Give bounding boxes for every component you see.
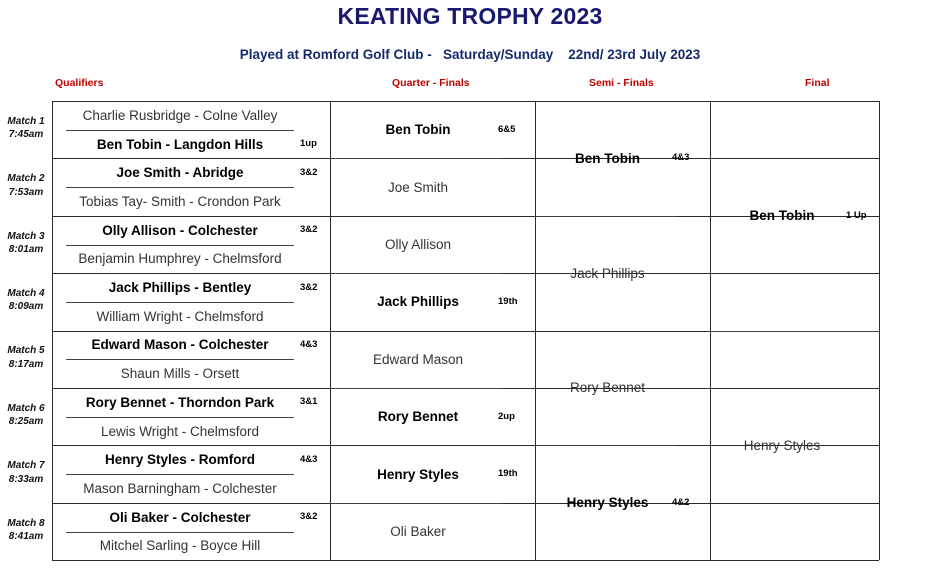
qualifier-slot-2[interactable]: Ben Tobin - Langdon Hills xyxy=(66,130,294,159)
player-name: Ben Tobin xyxy=(575,151,640,166)
player-name: Olly Allison - Colchester xyxy=(102,223,258,238)
match-time: 8:01am xyxy=(0,243,52,257)
player-name: Tobias Tay- Smith - Crondon Park xyxy=(79,194,281,209)
page-subtitle: Played at Romford Golf Club - Saturday/S… xyxy=(0,47,940,62)
final-slot-2[interactable]: Henry Styles xyxy=(724,331,840,561)
match-score: 6&5 xyxy=(498,124,515,135)
player-name: Henry Styles - Romford xyxy=(105,452,255,467)
round-header-final: Final xyxy=(805,77,830,89)
match-label-3: Match 38:01am xyxy=(0,230,52,257)
match-time: 7:53am xyxy=(0,186,52,200)
match-label-6: Match 68:25am xyxy=(0,402,52,429)
player-name: Henry Styles xyxy=(744,438,821,453)
player-name: Ben Tobin xyxy=(386,122,451,137)
match-time: 7:45am xyxy=(0,128,52,142)
match-number: Match 2 xyxy=(0,172,52,186)
player-name: Rory Bennet xyxy=(570,380,645,395)
match-score: 2up xyxy=(498,411,515,422)
semi-final-slot-3[interactable]: Rory Bennet xyxy=(549,331,666,446)
player-name: Mitchel Sarling - Boyce Hill xyxy=(100,538,261,553)
qualifier-slot-5[interactable]: Olly Allison - Colchester xyxy=(66,216,294,245)
player-name: Henry Styles xyxy=(377,467,459,482)
match-time: 8:33am xyxy=(0,473,52,487)
round-header-quarter-finals: Quarter - Finals xyxy=(392,77,470,89)
qualifier-slot-9[interactable]: Edward Mason - Colchester xyxy=(66,331,294,360)
quarter-final-slot-8[interactable]: Oli Baker xyxy=(344,503,492,560)
match-score: 4&3 xyxy=(672,152,689,163)
player-name: Ben Tobin - Langdon Hills xyxy=(97,137,263,152)
semi-final-slot-4[interactable]: Henry Styles xyxy=(549,445,666,560)
match-score: 19th xyxy=(498,468,518,479)
player-name: Rory Bennet xyxy=(378,409,458,424)
player-name: Edward Mason xyxy=(373,352,463,367)
player-name: Mason Barningham - Colchester xyxy=(83,481,277,496)
match-score: 1 Up xyxy=(846,210,867,221)
round-header-semi-finals: Semi - Finals xyxy=(589,77,654,89)
qualifier-slot-3[interactable]: Joe Smith - Abridge xyxy=(66,158,294,187)
player-name: Henry Styles xyxy=(567,495,649,510)
match-label-1: Match 17:45am xyxy=(0,115,52,142)
quarter-final-slot-2[interactable]: Joe Smith xyxy=(344,158,492,215)
match-score: 4&3 xyxy=(300,339,317,350)
match-number: Match 7 xyxy=(0,459,52,473)
player-name: Benjamin Humphrey - Chelmsford xyxy=(78,251,281,266)
player-name: Oli Baker - Colchester xyxy=(109,510,250,525)
match-number: Match 6 xyxy=(0,402,52,416)
match-time: 8:09am xyxy=(0,300,52,314)
bracket-page: KEATING TROPHY 2023 Played at Romford Go… xyxy=(0,0,940,570)
quarter-final-slot-1[interactable]: Ben Tobin xyxy=(344,101,492,158)
player-name: Lewis Wright - Chelmsford xyxy=(101,424,259,439)
qualifier-slot-15[interactable]: Oli Baker - Colchester xyxy=(66,503,294,532)
qualifier-slot-7[interactable]: Jack Phillips - Bentley xyxy=(66,273,294,302)
match-number: Match 4 xyxy=(0,287,52,301)
final-slot-1[interactable]: Ben Tobin xyxy=(724,101,840,331)
qualifier-slot-13[interactable]: Henry Styles - Romford xyxy=(66,445,294,474)
match-separator xyxy=(52,560,879,561)
player-name: Shaun Mills - Orsett xyxy=(121,366,240,381)
qualifier-slot-1[interactable]: Charlie Rusbridge - Colne Valley xyxy=(66,101,294,130)
bracket-border-right xyxy=(879,101,880,560)
match-label-8: Match 88:41am xyxy=(0,517,52,544)
quarter-final-slot-6[interactable]: Rory Bennet xyxy=(344,388,492,445)
player-name: Joe Smith - Abridge xyxy=(116,165,243,180)
quarter-final-slot-7[interactable]: Henry Styles xyxy=(344,445,492,502)
player-name: Joe Smith xyxy=(388,180,448,195)
qualifier-slot-4[interactable]: Tobias Tay- Smith - Crondon Park xyxy=(66,187,294,216)
match-number: Match 3 xyxy=(0,230,52,244)
match-score: 4&3 xyxy=(300,454,317,465)
match-score: 19th xyxy=(498,296,518,307)
player-name: Jack Phillips xyxy=(570,266,644,281)
semi-final-slot-2[interactable]: Jack Phillips xyxy=(549,216,666,331)
player-name: Oli Baker xyxy=(390,524,446,539)
match-label-7: Match 78:33am xyxy=(0,459,52,486)
qualifier-slot-8[interactable]: William Wright - Chelmsford xyxy=(66,302,294,331)
player-name: Jack Phillips xyxy=(377,294,459,309)
quarter-final-slot-4[interactable]: Jack Phillips xyxy=(344,273,492,330)
player-name: Rory Bennet - Thorndon Park xyxy=(86,395,274,410)
match-score: 4&2 xyxy=(672,497,689,508)
match-time: 8:17am xyxy=(0,358,52,372)
player-name: Ben Tobin xyxy=(750,208,815,223)
match-score: 3&2 xyxy=(300,511,317,522)
quarter-final-slot-3[interactable]: Olly Allison xyxy=(344,216,492,273)
qualifier-slot-6[interactable]: Benjamin Humphrey - Chelmsford xyxy=(66,245,294,274)
match-score: 3&1 xyxy=(300,396,317,407)
match-number: Match 1 xyxy=(0,115,52,129)
match-time: 8:41am xyxy=(0,530,52,544)
qualifier-slot-14[interactable]: Mason Barningham - Colchester xyxy=(66,474,294,503)
match-label-2: Match 27:53am xyxy=(0,172,52,199)
page-title: KEATING TROPHY 2023 xyxy=(0,3,940,30)
player-name: Charlie Rusbridge - Colne Valley xyxy=(83,108,278,123)
quarter-final-slot-5[interactable]: Edward Mason xyxy=(344,331,492,388)
round-header-qualifiers: Qualifiers xyxy=(55,77,103,89)
match-score: 3&2 xyxy=(300,282,317,293)
player-name: Edward Mason - Colchester xyxy=(91,337,268,352)
match-label-4: Match 48:09am xyxy=(0,287,52,314)
match-number: Match 5 xyxy=(0,344,52,358)
match-score: 3&2 xyxy=(300,224,317,235)
qualifier-slot-11[interactable]: Rory Bennet - Thorndon Park xyxy=(66,388,294,417)
match-score: 1up xyxy=(300,138,317,149)
match-time: 8:25am xyxy=(0,415,52,429)
semi-final-slot-1[interactable]: Ben Tobin xyxy=(549,101,666,216)
match-number: Match 8 xyxy=(0,517,52,531)
player-name: Jack Phillips - Bentley xyxy=(109,280,252,295)
bracket-grid: Charlie Rusbridge - Colne ValleyBen Tobi… xyxy=(52,101,880,560)
player-name: Olly Allison xyxy=(385,237,451,252)
match-score: 3&2 xyxy=(300,167,317,178)
qualifier-slot-10[interactable]: Shaun Mills - Orsett xyxy=(66,359,294,388)
match-label-5: Match 58:17am xyxy=(0,344,52,371)
player-name: William Wright - Chelmsford xyxy=(96,309,263,324)
qualifier-slot-16[interactable]: Mitchel Sarling - Boyce Hill xyxy=(66,532,294,561)
qualifier-slot-12[interactable]: Lewis Wright - Chelmsford xyxy=(66,417,294,446)
